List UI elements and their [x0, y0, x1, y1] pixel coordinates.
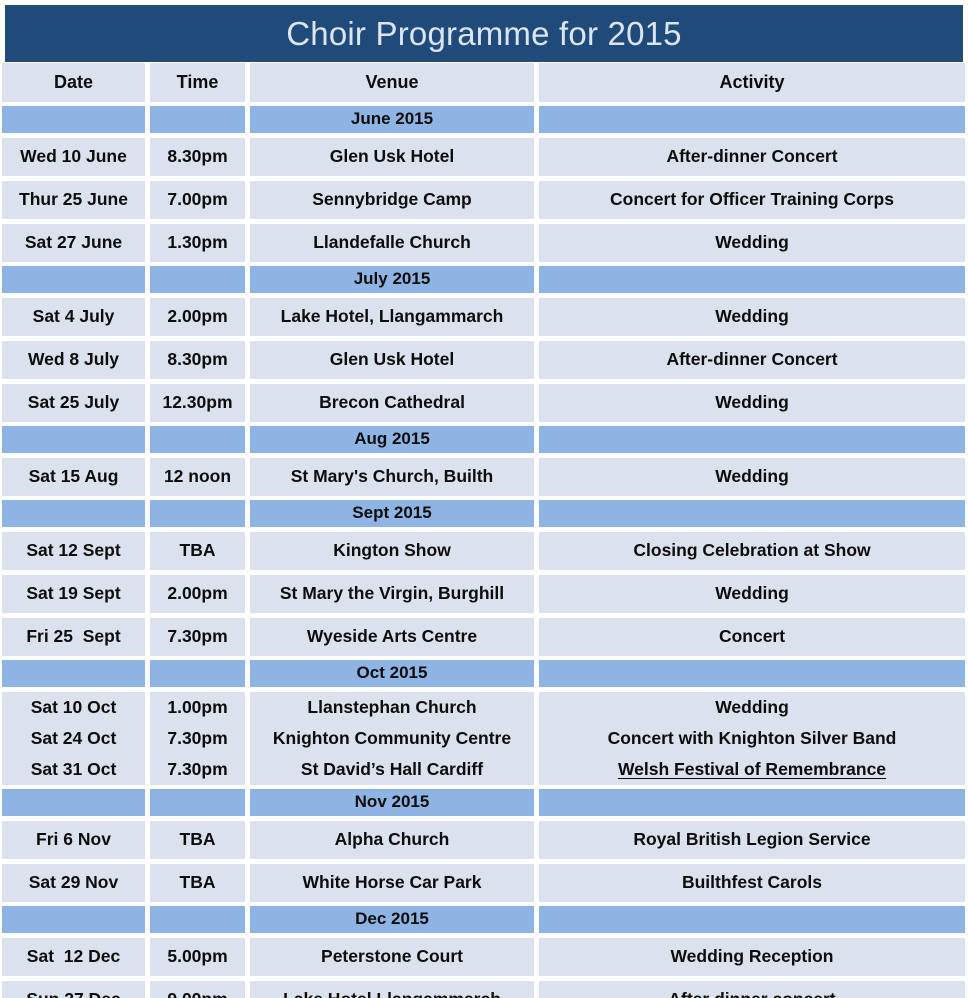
cell-time: TBA [150, 532, 245, 570]
cell-activity: Wedding [539, 575, 965, 613]
cell-time: 7.00pm [150, 181, 245, 219]
cell-time: 7.30pm [150, 618, 245, 656]
cell-activity: Wedding [539, 224, 965, 262]
cell-venue: Wyeside Arts Centre [250, 618, 534, 656]
table-row: Sat 31 Oct7.30pmSt David’s Hall CardiffW… [0, 754, 968, 785]
month-separator-row: July 2015 [0, 266, 968, 293]
cell-date: Sat 15 Aug [2, 458, 145, 496]
cell-activity: Welsh Festival of Remembrance [539, 754, 965, 785]
cell-activity: After-dinner Concert [539, 341, 965, 379]
cell-date: Sat 31 Oct [2, 754, 145, 785]
month-separator-row: Nov 2015 [0, 789, 968, 816]
cell-venue: Llanstephan Church [250, 692, 534, 723]
title-banner: Choir Programme for 2015 [5, 5, 963, 62]
cell-activity: After dinner concert [539, 981, 965, 998]
cell-activity: Concert with Knighton Silver Band [539, 723, 965, 754]
cell-venue: St David’s Hall Cardiff [250, 754, 534, 785]
cell-activity: Wedding [539, 384, 965, 422]
month-spacer-time [150, 789, 245, 816]
month-label: June 2015 [250, 106, 534, 133]
column-header-time: Time [150, 63, 245, 102]
table-row: Wed 8 July8.30pmGlen Usk HotelAfter-dinn… [0, 341, 968, 379]
cell-date: Sat 25 July [2, 384, 145, 422]
cell-date: Sun 27 Dec [2, 981, 145, 998]
month-separator-row: Aug 2015 [0, 426, 968, 453]
cell-activity: Closing Celebration at Show [539, 532, 965, 570]
cell-time: 7.30pm [150, 754, 245, 785]
cell-date: Sat 12 Sept [2, 532, 145, 570]
table-row: Sat 29 NovTBAWhite Horse Car ParkBuilthf… [0, 864, 968, 902]
cell-time: 2.00pm [150, 575, 245, 613]
table-row: Fri 6 NovTBAAlpha ChurchRoyal British Le… [0, 821, 968, 859]
month-spacer-date [2, 426, 145, 453]
table-row: Sat 12 Dec5.00pmPeterstone CourtWedding … [0, 938, 968, 976]
month-spacer-date [2, 660, 145, 687]
cell-date: Sat 12 Dec [2, 938, 145, 976]
table-row: Sat 10 Oct1.00pmLlanstephan ChurchWeddin… [0, 692, 968, 723]
programme-table: Date Time Venue Activity June 2015Wed 10… [0, 63, 968, 998]
underlined-text: Welsh Festival of Remembrance [618, 760, 886, 779]
month-spacer-activity [539, 660, 965, 687]
table-row: Sat 25 July12.30pmBrecon CathedralWeddin… [0, 384, 968, 422]
cell-activity: Royal British Legion Service [539, 821, 965, 859]
cell-venue: Sennybridge Camp [250, 181, 534, 219]
month-separator-row: Oct 2015 [0, 660, 968, 687]
cell-date: Fri 25 Sept [2, 618, 145, 656]
cell-time: 1.00pm [150, 692, 245, 723]
cell-activity: Concert for Officer Training Corps [539, 181, 965, 219]
cell-date: Sat 10 Oct [2, 692, 145, 723]
table-row: Sat 19 Sept2.00pmSt Mary the Virgin, Bur… [0, 575, 968, 613]
cell-time: 8.30pm [150, 138, 245, 176]
cell-activity: Wedding [539, 458, 965, 496]
table-row: Sat 15 Aug12 noonSt Mary's Church, Built… [0, 458, 968, 496]
cell-venue: St Mary's Church, Builth [250, 458, 534, 496]
cell-date: Fri 6 Nov [2, 821, 145, 859]
month-spacer-activity [539, 426, 965, 453]
cell-venue: Lake Hotel Llangammarch [250, 981, 534, 998]
cell-date: Sat 19 Sept [2, 575, 145, 613]
cell-venue: White Horse Car Park [250, 864, 534, 902]
cell-time: TBA [150, 864, 245, 902]
month-label: July 2015 [250, 266, 534, 293]
cell-date: Sat 29 Nov [2, 864, 145, 902]
month-label: Dec 2015 [250, 906, 534, 933]
cell-date: Wed 8 July [2, 341, 145, 379]
column-header-activity: Activity [539, 63, 965, 102]
month-spacer-activity [539, 500, 965, 527]
table-row: Sat 4 July2.00pmLake Hotel, Llangammarch… [0, 298, 968, 336]
month-spacer-activity [539, 906, 965, 933]
cell-activity: Builthfest Carols [539, 864, 965, 902]
cell-venue: Glen Usk Hotel [250, 138, 534, 176]
month-spacer-date [2, 906, 145, 933]
table-body: June 2015Wed 10 June8.30pmGlen Usk Hotel… [0, 106, 968, 998]
cell-time: 9.00pm [150, 981, 245, 998]
cell-time: 8.30pm [150, 341, 245, 379]
month-spacer-activity [539, 266, 965, 293]
page-title: Choir Programme for 2015 [286, 17, 681, 50]
cell-activity: After-dinner Concert [539, 138, 965, 176]
cell-venue: Kington Show [250, 532, 534, 570]
cell-time: 2.00pm [150, 298, 245, 336]
cell-time: 5.00pm [150, 938, 245, 976]
month-separator-row: June 2015 [0, 106, 968, 133]
month-separator-row: Dec 2015 [0, 906, 968, 933]
table-row: Sat 12 SeptTBAKington ShowClosing Celebr… [0, 532, 968, 570]
column-header-date: Date [2, 63, 145, 102]
cell-time: TBA [150, 821, 245, 859]
month-spacer-time [150, 500, 245, 527]
cell-activity: Wedding [539, 692, 965, 723]
choir-programme-page: Choir Programme for 2015 Date Time Venue… [0, 0, 968, 998]
month-spacer-time [150, 106, 245, 133]
cell-date: Sat 24 Oct [2, 723, 145, 754]
table-row: Fri 25 Sept7.30pmWyeside Arts CentreConc… [0, 618, 968, 656]
month-label: Sept 2015 [250, 500, 534, 527]
month-spacer-date [2, 500, 145, 527]
cell-date: Sat 4 July [2, 298, 145, 336]
cell-venue: Brecon Cathedral [250, 384, 534, 422]
cell-venue: Peterstone Court [250, 938, 534, 976]
month-spacer-time [150, 906, 245, 933]
month-spacer-time [150, 660, 245, 687]
table-row: Sun 27 Dec9.00pmLake Hotel LlangammarchA… [0, 981, 968, 998]
cell-venue: Alpha Church [250, 821, 534, 859]
cell-date: Wed 10 June [2, 138, 145, 176]
cell-time: 7.30pm [150, 723, 245, 754]
column-header-venue: Venue [250, 63, 534, 102]
cell-venue: St Mary the Virgin, Burghill [250, 575, 534, 613]
month-spacer-date [2, 789, 145, 816]
table-row: Wed 10 June8.30pmGlen Usk HotelAfter-din… [0, 138, 968, 176]
month-separator-row: Sept 2015 [0, 500, 968, 527]
month-label: Aug 2015 [250, 426, 534, 453]
cell-time: 1.30pm [150, 224, 245, 262]
cell-venue: Llandefalle Church [250, 224, 534, 262]
month-spacer-date [2, 106, 145, 133]
cell-date: Thur 25 June [2, 181, 145, 219]
cell-venue: Knighton Community Centre [250, 723, 534, 754]
month-label: Oct 2015 [250, 660, 534, 687]
cell-activity: Wedding Reception [539, 938, 965, 976]
month-spacer-time [150, 266, 245, 293]
month-label: Nov 2015 [250, 789, 534, 816]
cell-venue: Glen Usk Hotel [250, 341, 534, 379]
month-spacer-activity [539, 789, 965, 816]
month-spacer-date [2, 266, 145, 293]
table-header-row: Date Time Venue Activity [0, 63, 968, 102]
month-spacer-time [150, 426, 245, 453]
month-spacer-activity [539, 106, 965, 133]
cell-time: 12.30pm [150, 384, 245, 422]
cell-venue: Lake Hotel, Llangammarch [250, 298, 534, 336]
cell-activity: Concert [539, 618, 965, 656]
cell-activity: Wedding [539, 298, 965, 336]
table-row: Sat 24 Oct7.30pmKnighton Community Centr… [0, 723, 968, 754]
table-row: Sat 27 June1.30pmLlandefalle ChurchWeddi… [0, 224, 968, 262]
table-row: Thur 25 June7.00pmSennybridge CampConcer… [0, 181, 968, 219]
cell-date: Sat 27 June [2, 224, 145, 262]
cell-time: 12 noon [150, 458, 245, 496]
